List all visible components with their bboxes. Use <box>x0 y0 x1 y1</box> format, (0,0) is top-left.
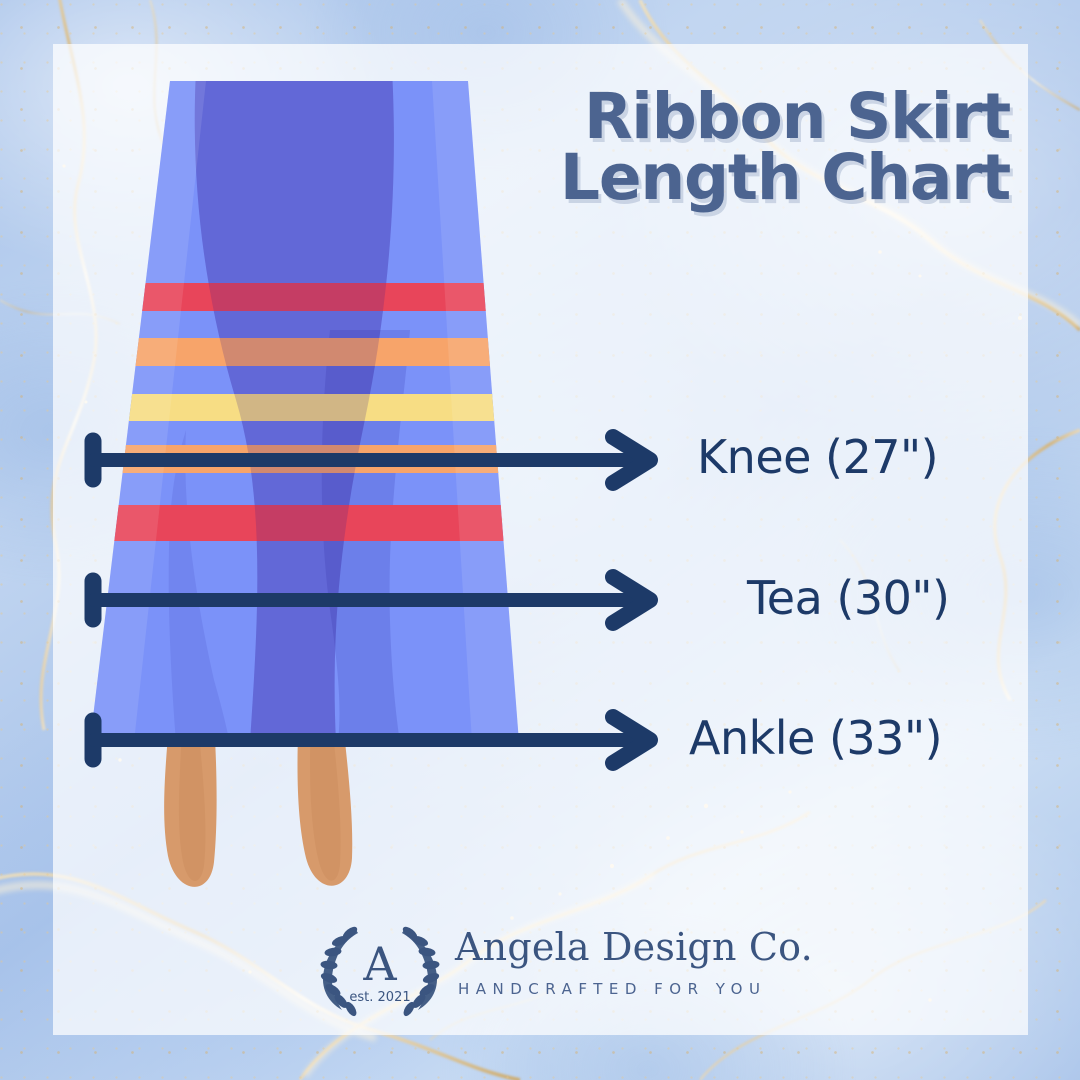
brand-name: Angela Design Co. <box>455 925 813 969</box>
monogram-letter: A <box>362 937 397 991</box>
label-ankle: Ankle (33") <box>689 711 942 765</box>
title-line-2: Length Chart <box>530 147 1010 208</box>
arrow-ankle <box>93 717 650 763</box>
brand-tagline: HANDCRAFTED FOR YOU <box>458 980 766 998</box>
arrow-knee <box>93 437 650 483</box>
established-text: est. 2021 <box>349 990 410 1005</box>
laurel-wreath-icon: A est. 2021 <box>310 918 450 1018</box>
page-title: Ribbon Skirt Length Chart <box>530 86 1010 208</box>
label-tea: Tea (30") <box>747 571 949 625</box>
brand-logo: A est. 2021 Angela Design Co. HANDCRAFTE… <box>310 918 780 1018</box>
infographic-canvas: Ribbon Skirt Length Chart Knee (27") Tea… <box>0 0 1080 1080</box>
arrow-tea <box>93 577 650 623</box>
label-knee: Knee (27") <box>697 430 938 484</box>
